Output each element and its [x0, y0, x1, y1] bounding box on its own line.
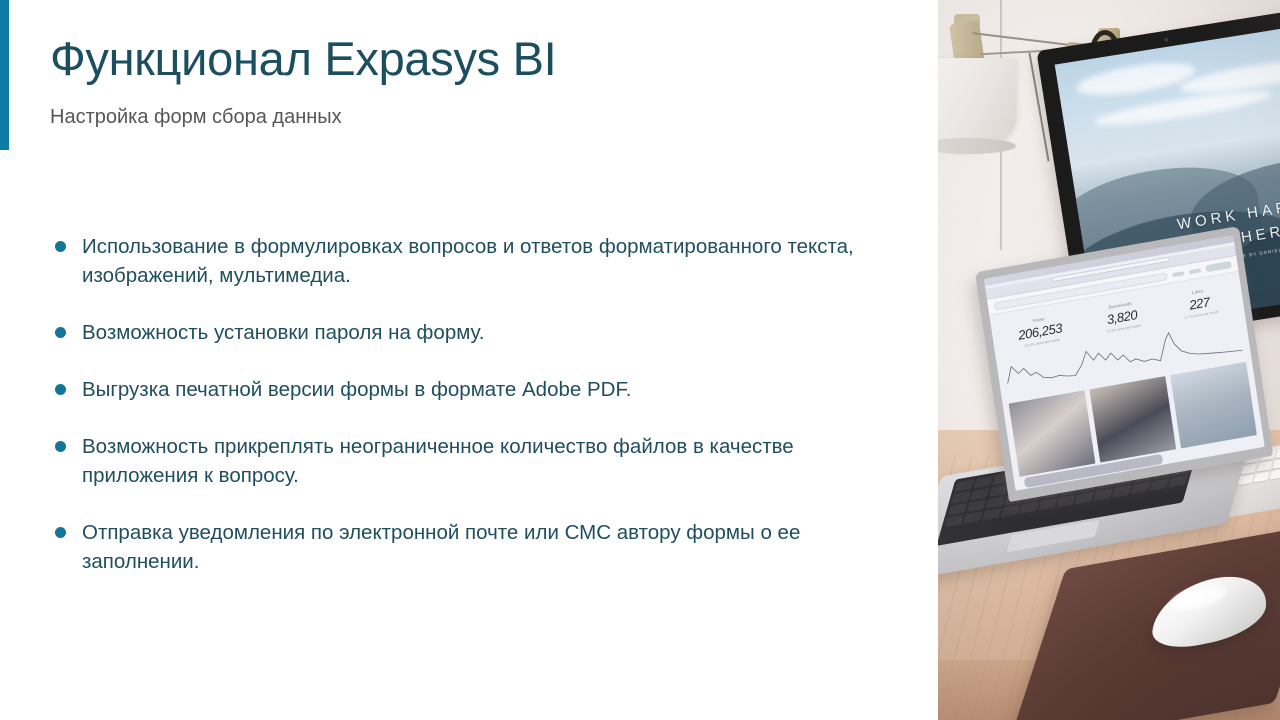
key [985, 496, 1004, 509]
key [1131, 482, 1150, 495]
key [1254, 472, 1270, 483]
key [1150, 478, 1169, 491]
key [1000, 505, 1019, 518]
bullet-dot-icon [55, 384, 66, 395]
bullet-text: Возможность прикреплять неограниченное к… [82, 432, 895, 490]
key [1038, 498, 1057, 511]
key [963, 511, 982, 524]
key [1269, 469, 1280, 480]
key [1094, 488, 1113, 501]
presentation-slide: Функционал Expasys BI Настройка форм сбо… [0, 0, 1280, 720]
stat-card-views: Views 206,253 +12.5% since last month [1016, 313, 1064, 348]
bullet-text: Возможность установки пароля на форму. [82, 318, 895, 347]
page-title: Функционал Expasys BI [50, 30, 900, 88]
thumbnail [1009, 390, 1096, 477]
key [1272, 458, 1280, 469]
cloud [1075, 57, 1198, 101]
key [1056, 495, 1075, 508]
key [1257, 461, 1273, 472]
list-item: Выгрузка печатной версии формы в формате… [50, 375, 895, 404]
key [951, 491, 970, 504]
list-item: Возможность установки пароля на форму. [50, 318, 895, 347]
key [1275, 447, 1280, 458]
bullet-text: Отправка уведомления по электронной почт… [82, 518, 895, 576]
bullet-dot-icon [55, 441, 66, 452]
key [967, 500, 986, 513]
stat-card-likes: Likes 227 +1.7% since last month [1180, 286, 1219, 320]
key [1075, 492, 1094, 505]
bullet-text: Выгрузка печатной версии формы в формате… [82, 375, 895, 404]
key [973, 476, 992, 489]
slide-photo: WORK HARD ANYWHERE IMAGE BY DANIEL ROBER… [938, 0, 1280, 720]
list-item: Отправка уведомления по электронной почт… [50, 518, 895, 576]
webcam-icon [1164, 38, 1169, 43]
key [948, 503, 967, 516]
lamp-shade [938, 58, 1016, 150]
accent-bar [0, 0, 9, 150]
key [989, 484, 1008, 497]
bullet-dot-icon [55, 241, 66, 252]
laptop-screen: Views 206,253 +12.5% since last month Do… [984, 235, 1265, 491]
key [1168, 475, 1187, 488]
bullet-dot-icon [55, 527, 66, 538]
bullet-list: Использование в формулировках вопросов и… [50, 232, 895, 576]
key [970, 488, 989, 501]
key [945, 515, 964, 528]
laptop-lid: Views 206,253 +12.5% since last month Do… [975, 226, 1273, 502]
submit-button [1205, 261, 1232, 272]
desk-scene: WORK HARD ANYWHERE IMAGE BY DANIEL ROBER… [938, 0, 1280, 720]
key [1019, 501, 1038, 514]
slide-header: Функционал Expasys BI Настройка форм сбо… [50, 30, 900, 130]
bullet-text: Использование в формулировках вопросов и… [82, 232, 895, 290]
nav-item [1172, 271, 1184, 277]
key [955, 479, 974, 492]
bullet-dot-icon [55, 327, 66, 338]
key [1112, 485, 1131, 498]
slide-subtitle: Настройка форм сбора данных [50, 104, 900, 130]
thumbnail [1170, 362, 1257, 449]
list-item: Использование в формулировках вопросов и… [50, 232, 895, 290]
thumbnail [1089, 376, 1176, 463]
stat-card-downloads: Downloads 3,820 +3.1% since last month [1103, 300, 1142, 334]
key [982, 508, 1001, 521]
list-item: Возможность прикреплять неограниченное к… [50, 432, 895, 490]
nav-item [1189, 268, 1201, 274]
